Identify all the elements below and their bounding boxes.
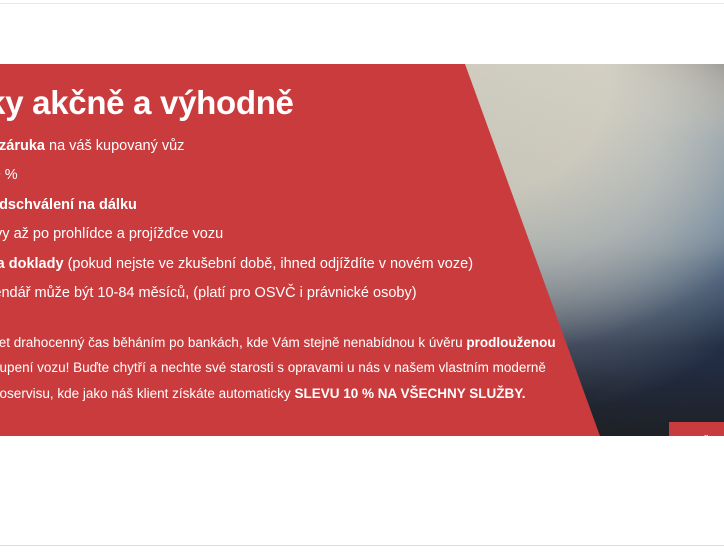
banner-headline: Splátky akčně a výhodně <box>0 64 608 121</box>
paragraph-line: Nemusíte ztrácet drahocenný čas běháním … <box>0 336 608 350</box>
page-top-divider <box>0 3 724 4</box>
benefit-strong-2: Okamžité předschválení na dálku <box>0 197 137 213</box>
list-item: Splátkový kalendář může být 10-84 měsíců… <box>0 286 608 301</box>
benefit-rest-5: Splátkový kalendář může být 10-84 měsíců… <box>0 285 417 301</box>
para-pre-0: Nemusíte ztrácet drahocenný čas běháním … <box>0 335 466 350</box>
list-item: Podpis smlouvy až po prohlídce a projížď… <box>0 227 608 242</box>
list-item: Akontace od 0 % <box>0 168 608 183</box>
benefit-strong-0: Prodloužená záruka <box>0 138 45 154</box>
benefit-rest-4: (pokud nejste ve zkušební době, ihned od… <box>64 256 473 272</box>
benefit-strong-4: Stačí vám dva doklady <box>0 256 64 272</box>
banner-copy: Splátky akčně a výhodně Prodloužená záru… <box>0 64 608 400</box>
benefit-rest-3: Podpis smlouvy až po prohlídce a projížď… <box>0 226 223 242</box>
para-strong-0: prodlouženou <box>466 335 555 350</box>
para-strong-2: SLEVU 10 % NA VŠECHNY SLUŽBY. <box>294 386 525 401</box>
contact-us-button[interactable]: OZVĚTE SE NÁM <box>669 422 724 436</box>
list-item: Prodloužená záruka na váš kupovaný vůz <box>0 139 608 154</box>
benefit-rest-0: na váš kupovaný vůz <box>45 138 184 154</box>
para-pre-2: vybaveném autoservisu, kde jako náš klie… <box>0 386 294 401</box>
list-item: Okamžité předschválení na dálku <box>0 198 608 213</box>
list-item: Stačí vám dva doklady (pokud nejste ve z… <box>0 257 608 272</box>
para-pre-1: záruku na zakoupení vozu! Buďte chytří a… <box>0 360 546 375</box>
paragraph-line: vybaveném autoservisu, kde jako náš klie… <box>0 387 608 401</box>
paragraph-line: záruku na zakoupení vozu! Buďte chytří a… <box>0 361 608 375</box>
promo-banner: Splátky akčně a výhodně Prodloužená záru… <box>0 64 724 436</box>
banner-paragraph: Nemusíte ztrácet drahocenný čas běháním … <box>0 316 608 401</box>
benefit-list: Prodloužená záruka na váš kupovaný vůz A… <box>0 121 608 301</box>
benefit-rest-1: Akontace od 0 % <box>0 167 18 183</box>
page-bottom-divider <box>0 545 724 546</box>
